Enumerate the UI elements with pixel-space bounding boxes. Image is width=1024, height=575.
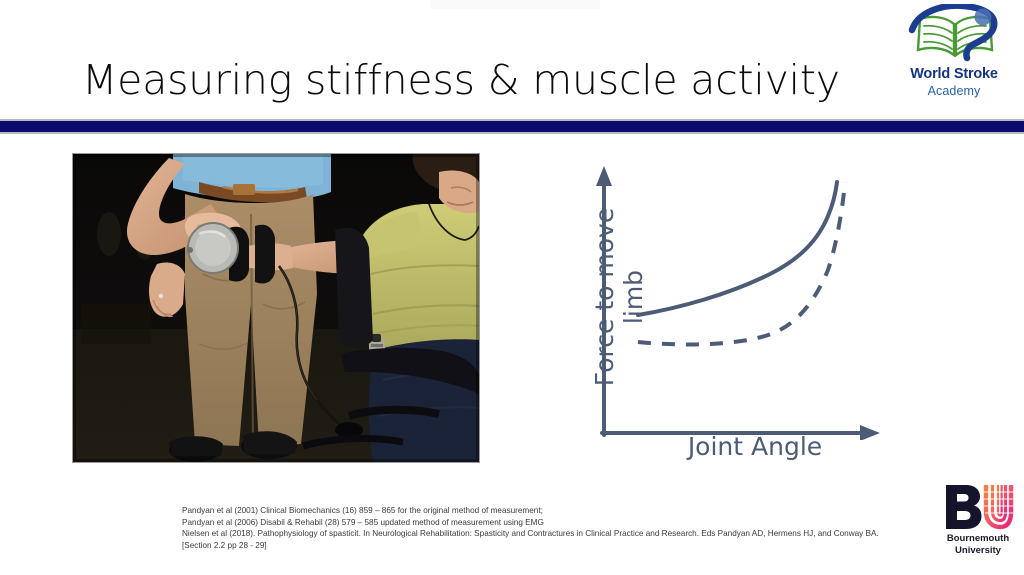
footnote-line-1: Pandyan et al (2001) Clinical Biomechani… (182, 505, 882, 517)
book-swoosh-icon (904, 4, 1006, 62)
divider-hairline-bottom (0, 132, 1024, 134)
divider (0, 119, 1024, 134)
footnote-line-3: Nielsen et al (2018). Pathophysiology of… (182, 528, 882, 551)
footnote-line-2: Pandyan et al (2006) Disabil & Rehabil (… (182, 517, 882, 529)
footnote-references: Pandyan et al (2001) Clinical Biomechani… (182, 505, 882, 551)
bu-logo-name: Bournemouth University (936, 533, 1020, 556)
wsa-logo-subtitle: Academy (890, 84, 1018, 98)
page-title: Measuring stiffness & muscle activity (82, 56, 840, 104)
bu-logo-line-1: Bournemouth (947, 533, 1009, 544)
slide-root: Measuring stiffness & muscle activity (0, 0, 1024, 575)
top-edge-band (430, 0, 600, 9)
bu-logo-line-2: University (955, 545, 1001, 556)
wsa-logo-title: World Stroke (890, 66, 1018, 82)
force-vs-angle-chart: Force to move limb Joint Angle (560, 160, 890, 465)
chart-x-axis-label: Joint Angle (640, 432, 870, 461)
stiffness-measurement-photo (72, 153, 480, 463)
world-stroke-academy-logo: World Stroke Academy (890, 4, 1018, 108)
bu-monogram-icon (942, 483, 1014, 531)
divider-bar (0, 121, 1024, 132)
bournemouth-university-logo: Bournemouth University (936, 483, 1020, 567)
chart-y-axis-label: Force to move limb (590, 202, 648, 392)
